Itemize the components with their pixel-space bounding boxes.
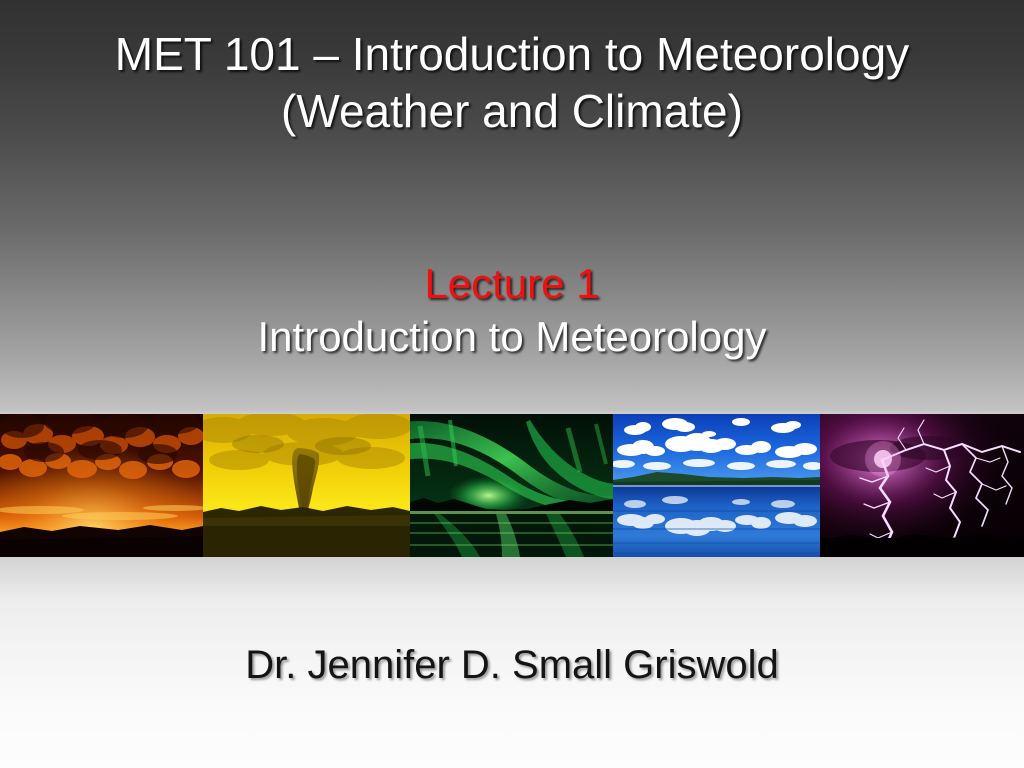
lecture-subtitle: Introduction to Meteorology xyxy=(0,310,1024,364)
title-line-1: MET 101 – Introduction to Meteorology xyxy=(0,26,1024,83)
photo-cumulus-clouds-over-lake xyxy=(613,414,820,557)
title-line-2: (Weather and Climate) xyxy=(0,83,1024,140)
cumulus-clouds-over-lake-icon xyxy=(613,414,820,557)
author-name: Dr. Jennifer D. Small Griswold xyxy=(0,640,1024,690)
aurora-borealis-icon xyxy=(410,414,613,557)
lecture-heading: Lecture 1 Introduction to Meteorology xyxy=(0,258,1024,364)
photo-aurora-borealis xyxy=(410,414,613,557)
author-credit: Dr. Jennifer D. Small Griswold xyxy=(0,640,1024,690)
photo-tornado-funnel xyxy=(203,414,410,557)
lecture-number: Lecture 1 xyxy=(0,258,1024,310)
photo-lightning-strike xyxy=(820,414,1024,557)
mammatus-sunset-clouds-icon xyxy=(0,414,203,557)
tornado-funnel-icon xyxy=(203,414,410,557)
lightning-strike-icon xyxy=(820,414,1024,557)
page-title: MET 101 – Introduction to Meteorology (W… xyxy=(0,26,1024,140)
photo-mammatus-sunset-clouds xyxy=(0,414,203,557)
title-slide: MET 101 – Introduction to Meteorology (W… xyxy=(0,0,1024,768)
photo-strip xyxy=(0,414,1024,557)
